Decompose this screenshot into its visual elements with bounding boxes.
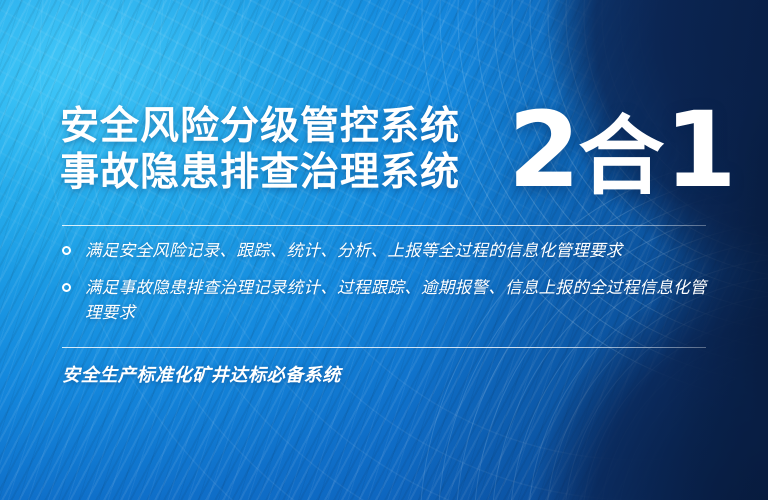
list-item-text: 满足安全风险记录、跟踪、统计、分析、上报等全过程的信息化管理要求: [85, 238, 623, 263]
two-in-one-badge: 2合1: [508, 96, 735, 211]
headline-block: 安全风险分级管控系统 事故隐患排查治理系统: [60, 104, 460, 196]
badge-prefix-digit: 2: [508, 89, 578, 211]
divider-bottom: [62, 347, 706, 348]
list-item-text: 满足事故隐患排查治理记录统计、过程跟踪、逾期报警、信息上报的全过程信息化管理要求: [85, 275, 712, 325]
badge-middle-character: 合: [578, 107, 664, 207]
list-item: 满足安全风险记录、跟踪、统计、分析、上报等全过程的信息化管理要求: [62, 238, 712, 263]
promo-banner: 安全风险分级管控系统 事故隐患排查治理系统 2合1 满足安全风险记录、跟踪、统计…: [0, 0, 768, 500]
ring-bullet-icon: [62, 246, 71, 255]
headline-line-1: 安全风险分级管控系统: [60, 104, 460, 150]
banner-content: 安全风险分级管控系统 事故隐患排查治理系统 2合1 满足安全风险记录、跟踪、统计…: [0, 0, 768, 500]
list-item: 满足事故隐患排查治理记录统计、过程跟踪、逾期报警、信息上报的全过程信息化管理要求: [62, 275, 712, 325]
divider-top: [62, 225, 706, 226]
headline-line-2: 事故隐患排查治理系统: [60, 150, 460, 196]
footer-tagline: 安全生产标准化矿井达标必备系统: [62, 361, 341, 387]
badge-suffix-digit: 1: [664, 89, 734, 211]
ring-bullet-icon: [62, 283, 71, 292]
feature-list: 满足安全风险记录、跟踪、统计、分析、上报等全过程的信息化管理要求 满足事故隐患排…: [62, 238, 712, 337]
